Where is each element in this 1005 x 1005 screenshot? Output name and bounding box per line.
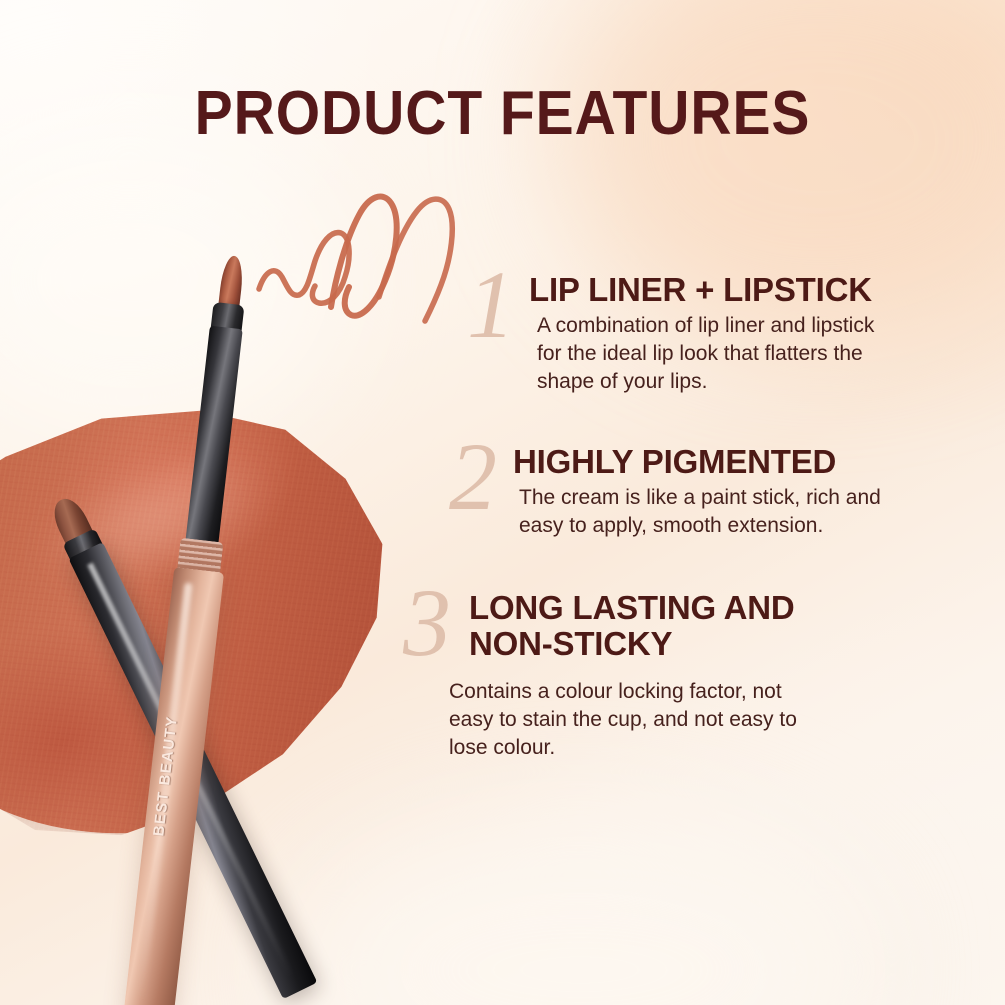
feature-description-3: Contains a colour locking factor, not ea…	[393, 666, 965, 762]
feature-number-2: 2	[439, 438, 497, 517]
feature-description-2: The cream is like a paint stick, rich an…	[513, 484, 965, 540]
page-title: PRODUCT FEATURES	[40, 78, 965, 149]
feature-item-2: 2 HIGHLY PIGMENTED The cream is like a p…	[439, 438, 965, 540]
feature-heading-3: LONG LASTING AND NON-STICKY	[469, 590, 965, 661]
feature-heading-2: HIGHLY PIGMENTED	[513, 444, 965, 479]
product-features-poster: BEST BEAUTY PRODUCT FEATURES 1 LIP LINER…	[0, 0, 1005, 1005]
feature-number-3: 3	[393, 584, 451, 663]
liner-black-tube	[185, 326, 243, 548]
feature-item-3: 3 LONG LASTING AND NON-STICKY Contains a…	[393, 584, 965, 761]
feature-description-1: A combination of lip liner and lipstick …	[529, 312, 965, 396]
feature-item-1: 1 LIP LINER + LIPSTICK A combination of …	[457, 266, 965, 396]
feature-list: 1 LIP LINER + LIPSTICK A combination of …	[385, 266, 965, 796]
feature-number-1: 1	[457, 266, 515, 345]
feature-heading-1: LIP LINER + LIPSTICK	[529, 272, 965, 307]
